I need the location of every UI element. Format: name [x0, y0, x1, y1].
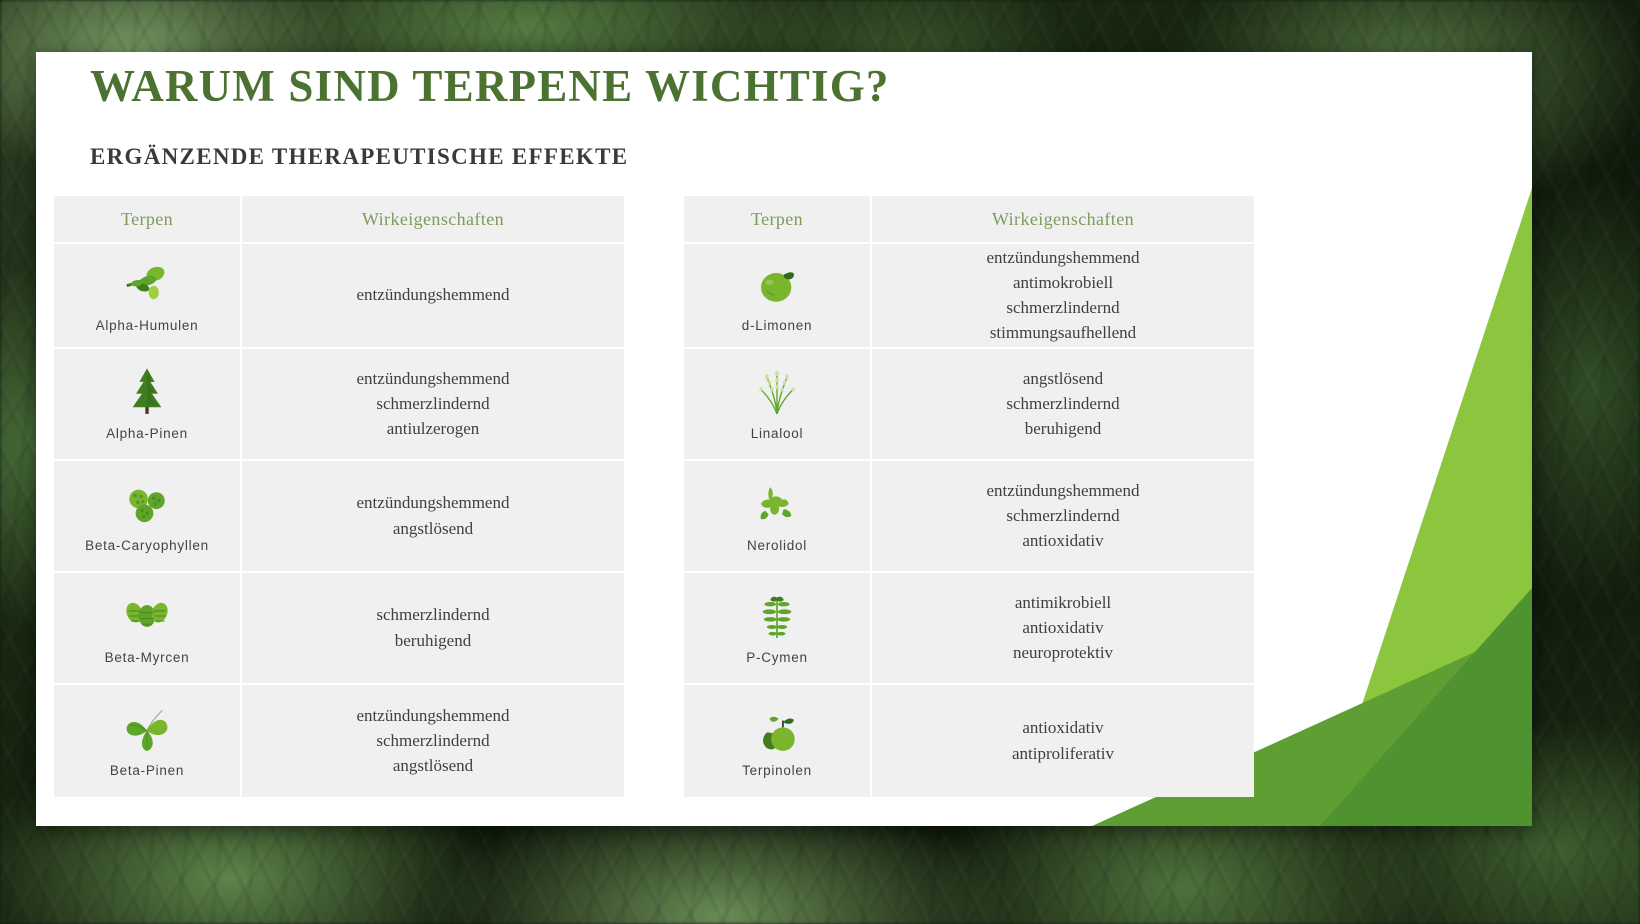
- terpene-name: P-Cymen: [746, 650, 808, 665]
- effects-cell: entzündungshemmendantimokrobiellschmerzl…: [872, 244, 1254, 347]
- effect-line: neuroprotektiv: [1013, 641, 1113, 665]
- effects-cell: entzündungshemmendschmerzlinderndantioxi…: [872, 461, 1254, 571]
- effects-cell: antioxidativantiproliferativ: [872, 685, 1254, 797]
- terpene-name: d-Limonen: [742, 318, 813, 333]
- effect-line: schmerzlindernd: [1006, 504, 1119, 528]
- effects-cell: entzündungshemmendschmerzlinderndangstlö…: [242, 685, 624, 797]
- effect-line: antioxidativ: [1022, 529, 1103, 553]
- terpene-name: Terpinolen: [742, 763, 812, 778]
- effect-line: antiproliferativ: [1012, 742, 1114, 766]
- effect-line: schmerzlindernd: [1006, 296, 1119, 320]
- terpene-cell: Linalool: [684, 349, 870, 459]
- effect-line: entzündungshemmend: [357, 367, 510, 391]
- effect-line: antimikrobiell: [1015, 591, 1111, 615]
- terpene-name: Beta-Myrcen: [105, 650, 190, 665]
- effect-line: schmerzlindernd: [376, 729, 489, 753]
- table-row: Alpha-Pinenentzündungshemmendschmerzlind…: [54, 349, 624, 459]
- effect-line: schmerzlindernd: [376, 392, 489, 416]
- column-header-terpene: Terpen: [684, 196, 870, 242]
- terpene-cell: Beta-Myrcen: [54, 573, 240, 683]
- effect-line: angstlösend: [393, 517, 473, 541]
- lime-fruit-icon: [750, 257, 804, 311]
- table-row: P-Cymenantimikrobiellantioxidativneuropr…: [684, 573, 1254, 683]
- table-row: Nerolidolentzündungshemmendschmerzlinder…: [684, 461, 1254, 571]
- effect-line: antioxidativ: [1022, 716, 1103, 740]
- hop-branch-icon: [120, 257, 174, 311]
- column-header-terpene: Terpen: [54, 196, 240, 242]
- effect-line: beruhigend: [395, 629, 471, 653]
- hop-cones-icon: [120, 589, 174, 643]
- column-header-effects: Wirkeigenschaften: [242, 196, 624, 242]
- lavender-sprig-icon: [750, 365, 804, 419]
- effect-line: schmerzlindernd: [1006, 392, 1119, 416]
- terpene-cell: d-Limonen: [684, 244, 870, 347]
- effect-line: beruhigend: [1025, 417, 1101, 441]
- apple-pear-icon: [750, 702, 804, 756]
- terpene-cell: P-Cymen: [684, 573, 870, 683]
- terpene-cell: Beta-Pinen: [54, 685, 240, 797]
- basil-leaf-icon: [120, 702, 174, 756]
- terpene-name: Alpha-Pinen: [106, 426, 188, 441]
- right-terpene-table: TerpenWirkeigenschaftend-Limonenentzündu…: [684, 196, 1254, 799]
- effect-line: angstlösend: [393, 754, 473, 778]
- effect-line: antimokrobiell: [1013, 271, 1113, 295]
- effect-line: entzündungshemmend: [357, 283, 510, 307]
- pine-tree-icon: [120, 365, 174, 419]
- terpene-cell: Nerolidol: [684, 461, 870, 571]
- table-header-row: TerpenWirkeigenschaften: [684, 196, 1254, 242]
- table-row: Alpha-Humulenentzündungshemmend: [54, 244, 624, 347]
- clove-buds-icon: [120, 477, 174, 531]
- effect-line: entzündungshemmend: [987, 246, 1140, 270]
- table-header-row: TerpenWirkeigenschaften: [54, 196, 624, 242]
- terpene-name: Beta-Caryophyllen: [85, 538, 209, 553]
- terpene-cell: Terpinolen: [684, 685, 870, 797]
- effect-line: entzündungshemmend: [987, 479, 1140, 503]
- effect-line: schmerzlindernd: [376, 603, 489, 627]
- effect-line: entzündungshemmend: [357, 491, 510, 515]
- effects-cell: angstlösendschmerzlinderndberuhigend: [872, 349, 1254, 459]
- effect-line: antioxidativ: [1022, 616, 1103, 640]
- table-row: Beta-Caryophyllenentzündungshemmendangst…: [54, 461, 624, 571]
- column-header-effects: Wirkeigenschaften: [872, 196, 1254, 242]
- table-row: d-Limonenentzündungshemmendantimokrobiel…: [684, 244, 1254, 347]
- terpene-cell: Alpha-Humulen: [54, 244, 240, 347]
- ginger-root-icon: [750, 477, 804, 531]
- effect-line: stimmungsaufhellend: [990, 321, 1136, 345]
- terpene-name: Nerolidol: [747, 538, 807, 553]
- effects-cell: entzündungshemmend: [242, 244, 624, 347]
- effect-line: angstlösend: [1023, 367, 1103, 391]
- slide-card: WARUM SIND TERPENE WICHTIG? ERGÄNZENDE T…: [36, 52, 1532, 826]
- effects-cell: antimikrobiellantioxidativneuroprotektiv: [872, 573, 1254, 683]
- thyme-sprig-icon: [750, 589, 804, 643]
- left-terpene-table: TerpenWirkeigenschaftenAlpha-Humulenentz…: [54, 196, 624, 799]
- effects-cell: entzündungshemmendangstlösend: [242, 461, 624, 571]
- terpene-name: Beta-Pinen: [110, 763, 184, 778]
- table-row: Beta-Pinenentzündungshemmendschmerzlinde…: [54, 685, 624, 797]
- effects-cell: schmerzlinderndberuhigend: [242, 573, 624, 683]
- terpene-name: Alpha-Humulen: [96, 318, 199, 333]
- effect-line: antiulzerogen: [387, 417, 480, 441]
- terpene-name: Linalool: [751, 426, 804, 441]
- table-row: Beta-Myrcenschmerzlinderndberuhigend: [54, 573, 624, 683]
- table-row: Terpinolenantioxidativantiproliferativ: [684, 685, 1254, 797]
- table-row: Linaloolangstlösendschmerzlinderndberuhi…: [684, 349, 1254, 459]
- terpene-cell: Alpha-Pinen: [54, 349, 240, 459]
- terpene-cell: Beta-Caryophyllen: [54, 461, 240, 571]
- page-subtitle: ERGÄNZENDE THERAPEUTISCHE EFFEKTE: [90, 144, 628, 170]
- tables-container: TerpenWirkeigenschaftenAlpha-Humulenentz…: [54, 196, 1254, 799]
- effect-line: entzündungshemmend: [357, 704, 510, 728]
- effects-cell: entzündungshemmendschmerzlinderndantiulz…: [242, 349, 624, 459]
- page-title: WARUM SIND TERPENE WICHTIG?: [90, 60, 890, 112]
